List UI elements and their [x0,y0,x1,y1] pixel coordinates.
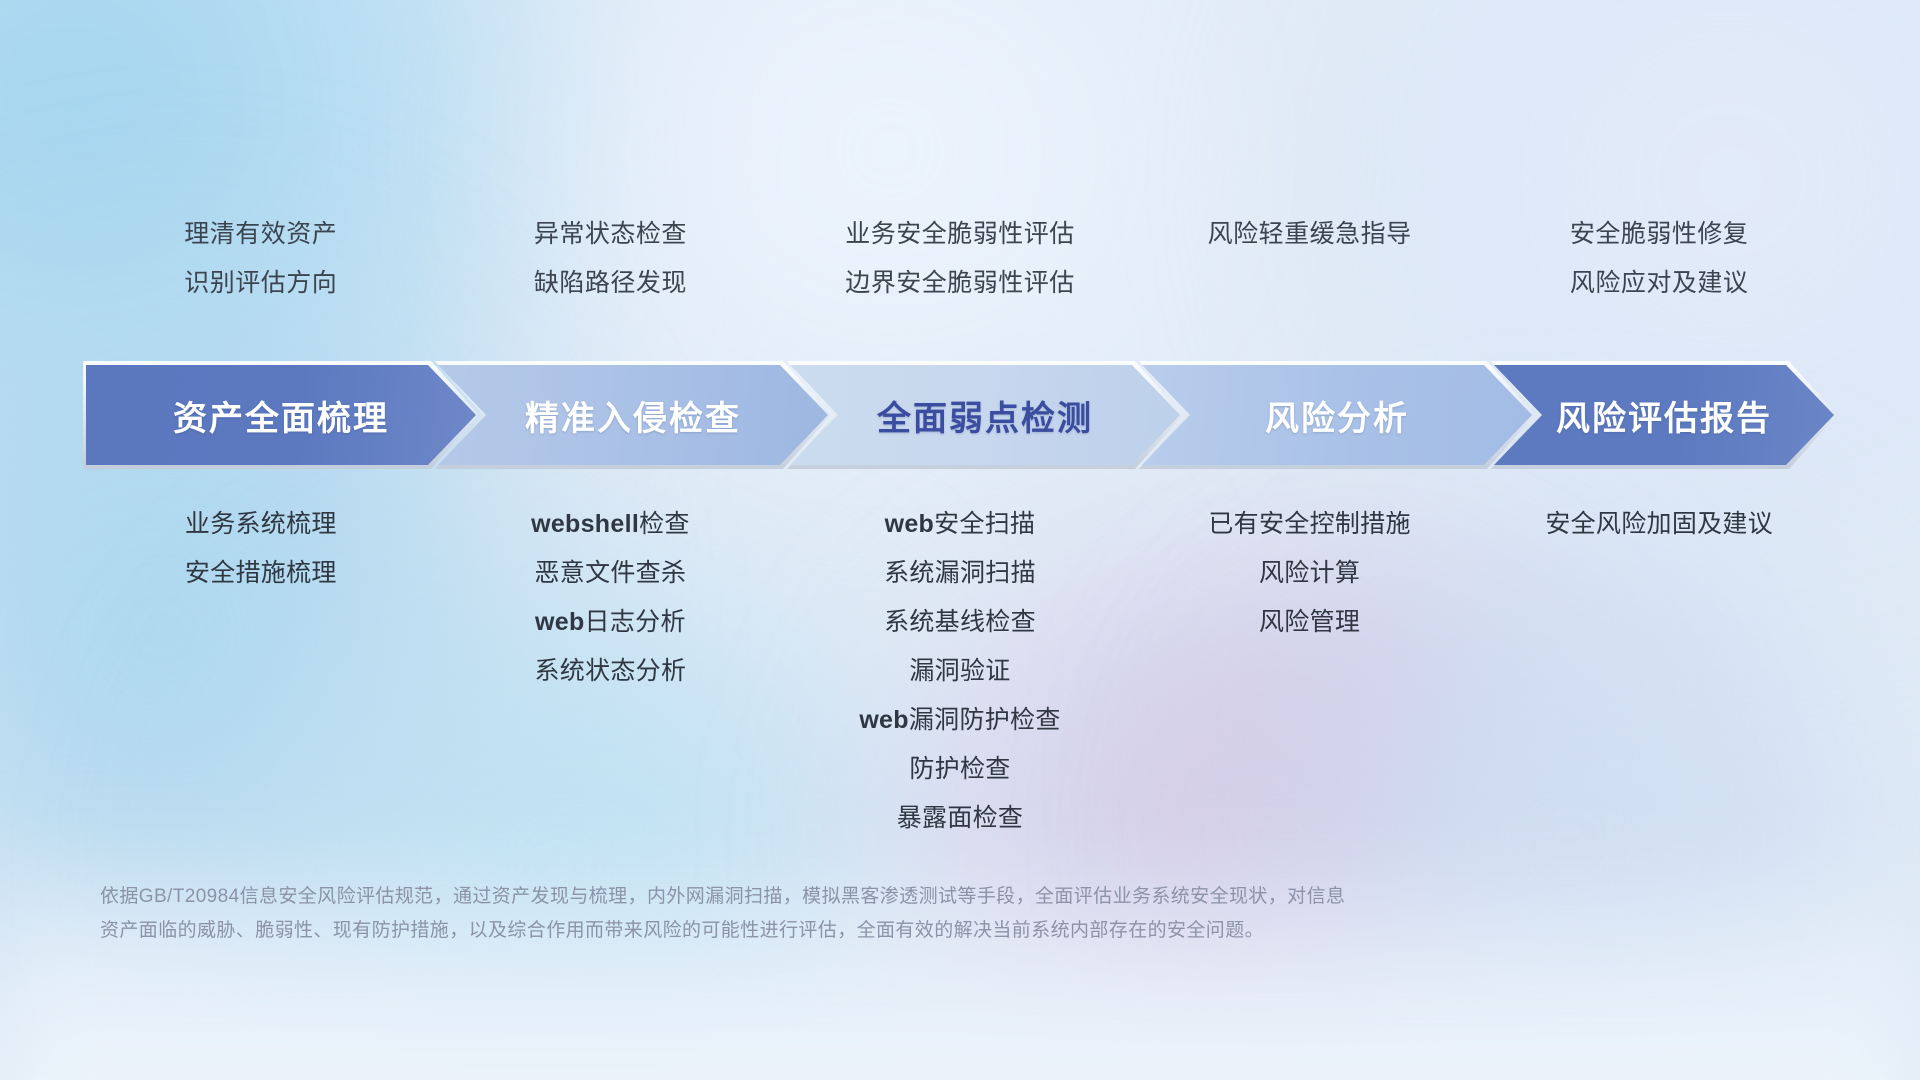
latin-run: web [885,510,935,538]
list-item: 安全措施梳理 [86,561,436,586]
list-item: 暴露面检查 [785,806,1135,831]
stage-chevron-2[interactable]: 精准入侵检查 [438,365,828,465]
top-captions-stage-5: 安全脆弱性修复 风险应对及建议 [1484,222,1834,296]
latin-run: webshell [531,510,639,538]
list-item: 防护检查 [785,757,1135,782]
stage-label: 精准入侵检查 [525,391,741,440]
caption: 风险轻重缓急指导 [1135,222,1485,247]
detail-list-stage-5: 安全风险加固及建议 [1484,512,1834,537]
caption: 风险应对及建议 [1484,271,1834,296]
latin-run: web [535,608,585,636]
top-caption-row: 理清有效资产 识别评估方向 异常状态检查 缺陷路径发现 业务安全脆弱性评估 边界… [86,222,1834,296]
caption: 业务安全脆弱性评估 [785,222,1135,247]
detail-list-stage-2: webshell检查 恶意文件查杀 web日志分析 系统状态分析 [436,512,786,684]
list-item: web日志分析 [436,610,786,635]
caption: 边界安全脆弱性评估 [785,271,1135,296]
list-item: 恶意文件查杀 [436,561,786,586]
caption: 缺陷路径发现 [436,271,786,296]
detail-list-stage-1: 业务系统梳理 安全措施梳理 [86,512,436,586]
detail-list-stage-3: web安全扫描 系统漏洞扫描 系统基线检查 漏洞验证 web漏洞防护检查 防护检… [785,512,1135,831]
list-item: 漏洞验证 [785,659,1135,684]
list-item: 风险计算 [1135,561,1485,586]
list-item: 系统基线检查 [785,610,1135,635]
stage-label: 风险分析 [1265,391,1409,440]
list-item: web安全扫描 [785,512,1135,537]
caption: 识别评估方向 [86,271,436,296]
stage-chevron-5[interactable]: 风险评估报告 [1494,365,1834,465]
top-captions-stage-3: 业务安全脆弱性评估 边界安全脆弱性评估 [785,222,1135,296]
stage-chevron-3[interactable]: 全面弱点检测 [790,365,1180,465]
stage-label: 全面弱点检测 [877,391,1093,440]
footer-line-2: 资产面临的威胁、脆弱性、现有防护措施，以及综合作用而带来风险的可能性进行评估，全… [100,914,1640,948]
list-item: 风险管理 [1135,610,1485,635]
bottom-detail-row: 业务系统梳理 安全措施梳理 webshell检查 恶意文件查杀 web日志分析 … [86,512,1834,831]
stage-chevron-4[interactable]: 风险分析 [1142,365,1532,465]
stage-chevron-1[interactable]: 资产全面梳理 [86,365,476,465]
caption: 异常状态检查 [436,222,786,247]
stage-label: 资产全面梳理 [173,391,389,440]
top-captions-stage-2: 异常状态检查 缺陷路径发现 [436,222,786,296]
caption: 理清有效资产 [86,222,436,247]
list-item: 安全风险加固及建议 [1484,512,1834,537]
caption: 安全脆弱性修复 [1484,222,1834,247]
detail-list-stage-4: 已有安全控制措施 风险计算 风险管理 [1135,512,1485,635]
process-chevron-banner: 资产全面梳理 精准入侵检查 全面弱点检测 风险分析 风险评估报告 [86,365,1834,465]
stage-label: 风险评估报告 [1556,391,1772,440]
top-captions-stage-1: 理清有效资产 识别评估方向 [86,222,436,296]
top-captions-stage-4: 风险轻重缓急指导 [1135,222,1485,296]
footer-description: 依据GB/T20984信息安全风险评估规范，通过资产发现与梳理，内外网漏洞扫描，… [100,880,1640,948]
diagram-page: 理清有效资产 识别评估方向 异常状态检查 缺陷路径发现 业务安全脆弱性评估 边界… [0,0,1920,1080]
list-item: web漏洞防护检查 [785,708,1135,733]
list-item: 已有安全控制措施 [1135,512,1485,537]
footer-line-1: 依据GB/T20984信息安全风险评估规范，通过资产发现与梳理，内外网漏洞扫描，… [100,880,1640,914]
latin-run: web [859,706,909,734]
list-item: webshell检查 [436,512,786,537]
list-item: 系统状态分析 [436,659,786,684]
list-item: 业务系统梳理 [86,512,436,537]
list-item: 系统漏洞扫描 [785,561,1135,586]
